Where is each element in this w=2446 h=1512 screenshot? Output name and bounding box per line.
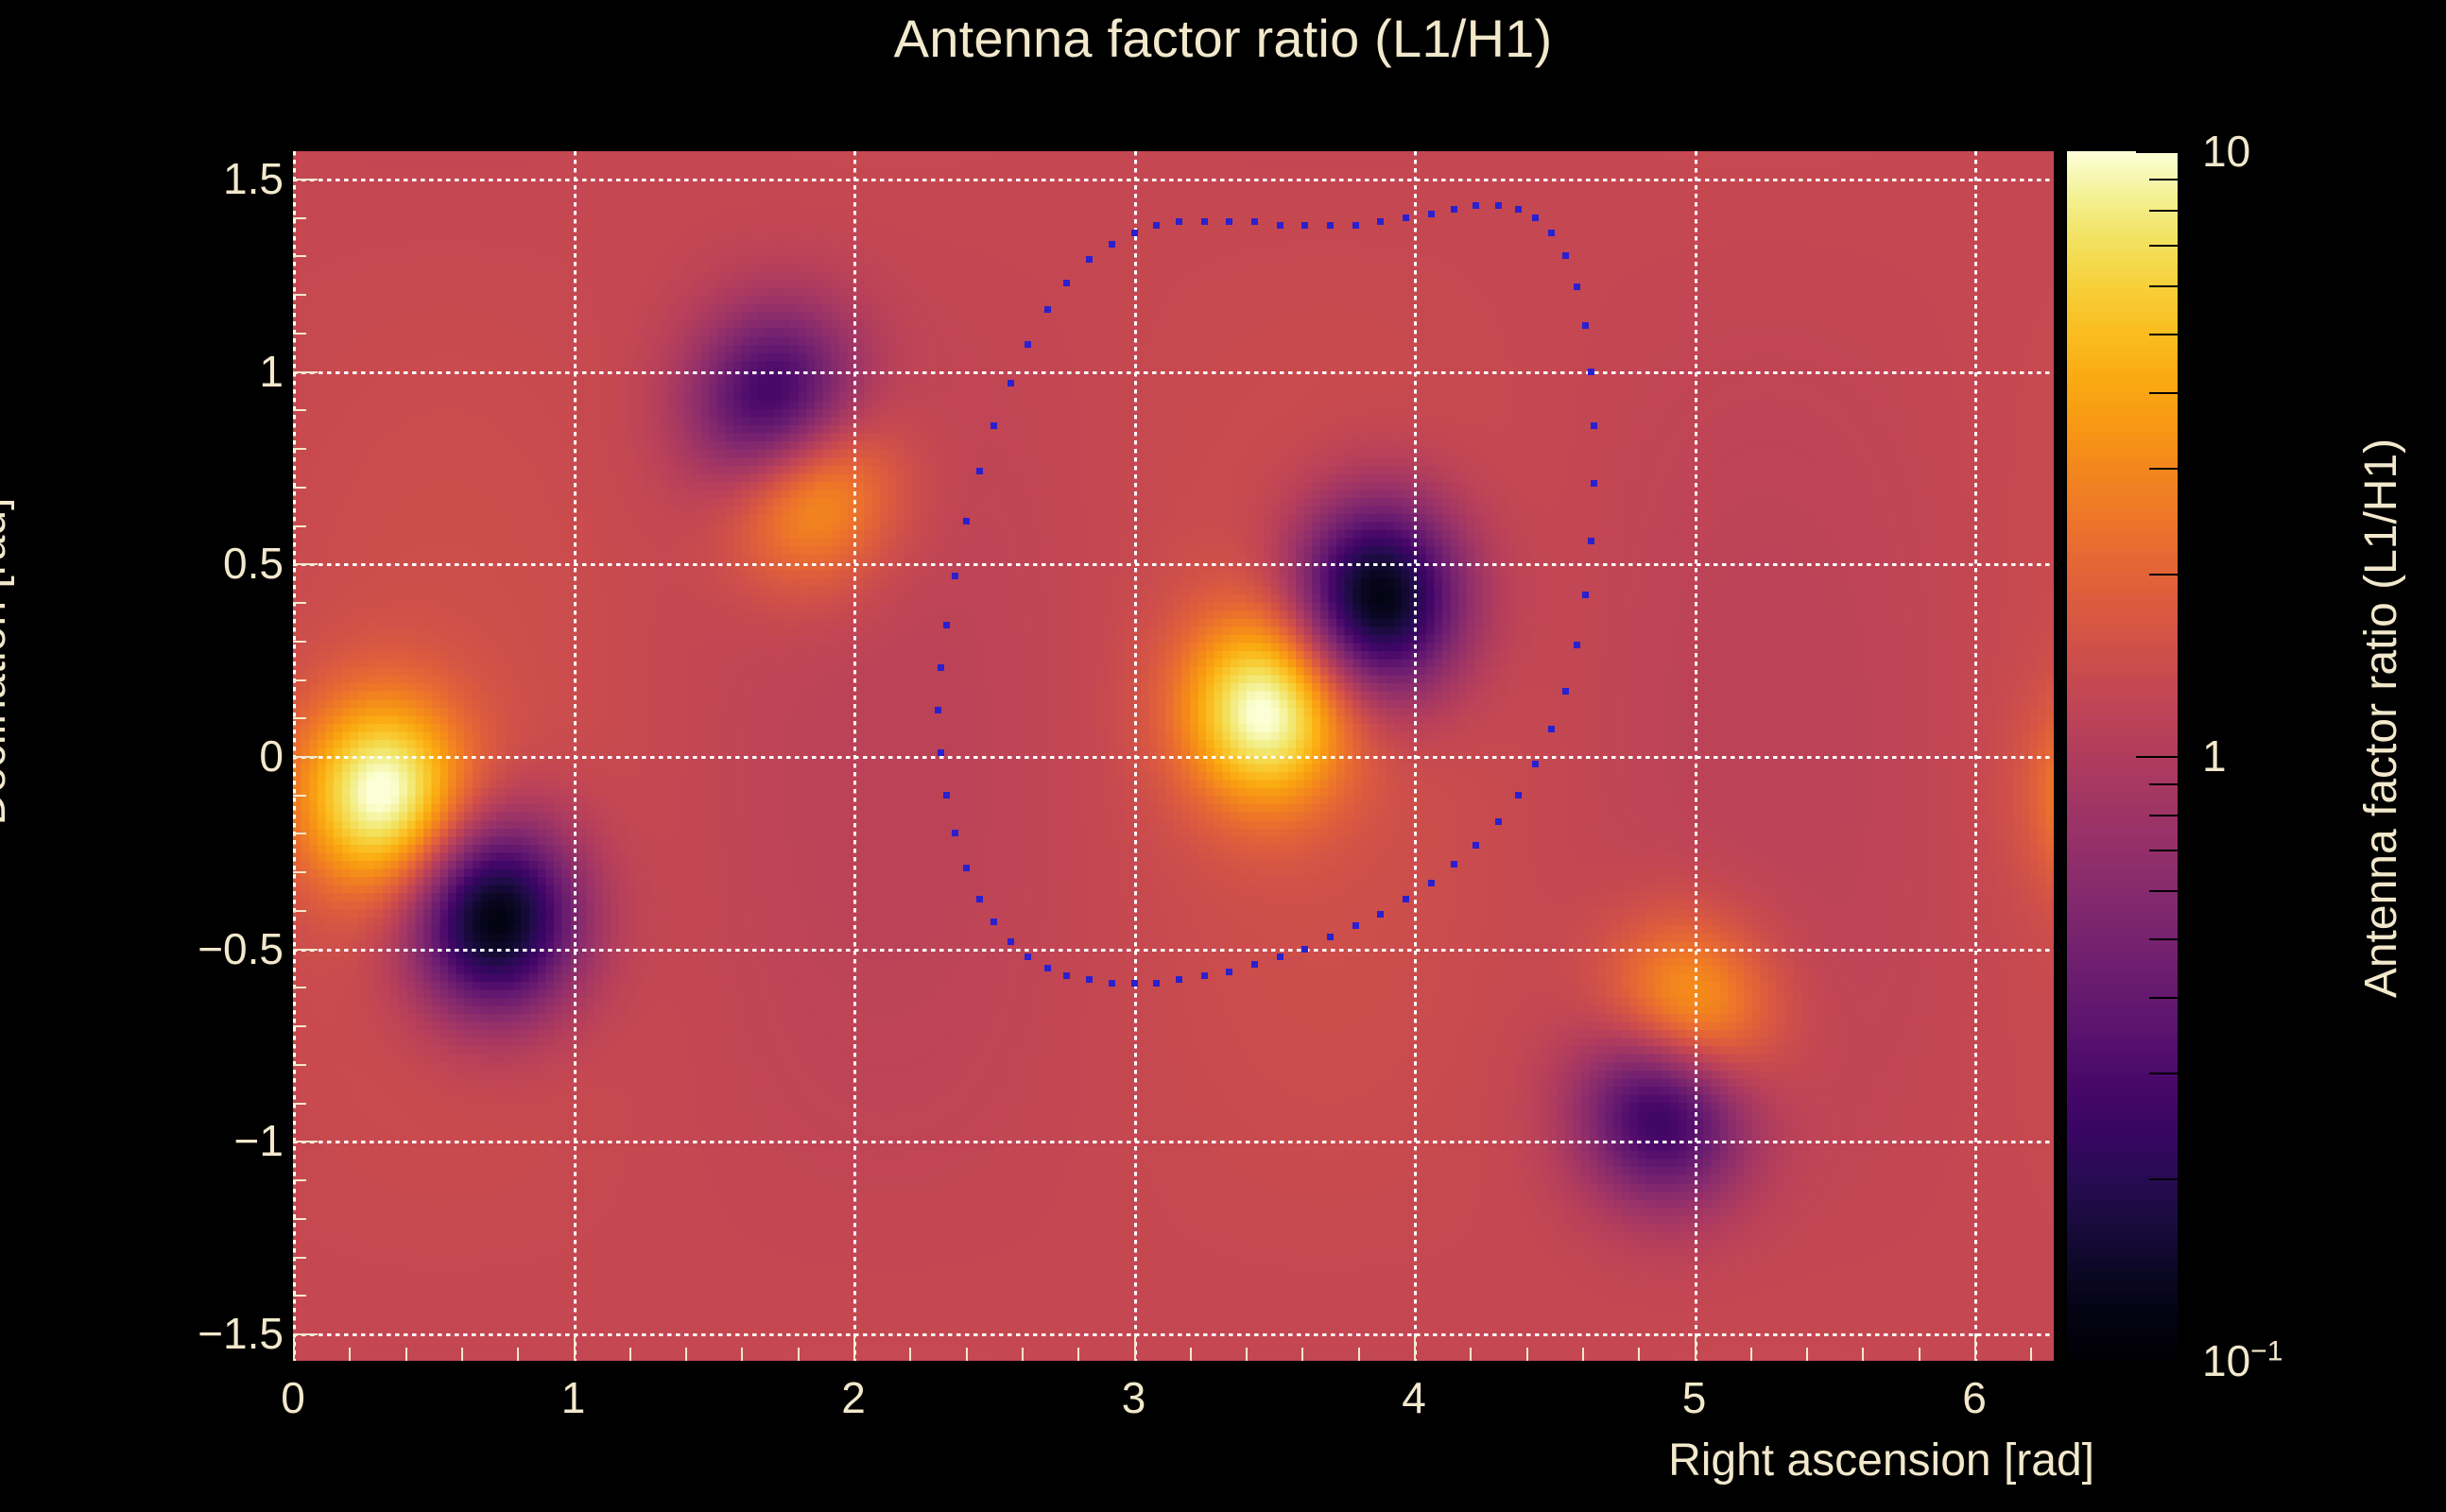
colorbar-tick [2149,938,2178,940]
overlay-curve-point [1063,972,1070,979]
tick-mark [293,987,306,988]
overlay-curve-point [1428,211,1435,217]
tick-mark [293,1141,318,1143]
tick-mark [1077,1348,1079,1361]
tick-mark [1470,1348,1472,1361]
y-axis-tick-label: −1.5 [198,1308,284,1359]
tick-mark [1190,1348,1192,1361]
overlay-curve-point [1532,215,1539,221]
overlay-curve-point [990,422,997,429]
tick-mark [293,563,318,565]
overlay-curve-point [1251,218,1258,225]
y-axis-tick-label: −1 [234,1115,284,1166]
overlay-curve-point [1201,972,1208,979]
tick-mark [293,641,306,643]
overlay-curve-point [1495,202,1502,209]
overlay-curve-point [1588,369,1594,375]
overlay-curve-point [1451,206,1457,213]
overlay-curve-point [1473,202,1479,209]
tick-mark [293,717,306,719]
colorbar-tick [2149,468,2178,470]
tick-mark [741,1348,743,1361]
tick-mark [2030,1348,2032,1361]
overlay-curve-point [1025,954,1031,960]
tick-mark [293,1179,306,1181]
overlay-curve-point [1562,252,1569,259]
y-axis-tick-label: 0.5 [223,538,284,589]
tick-mark [293,756,318,758]
colorbar-tick [2136,756,2178,758]
tick-mark [1358,1348,1360,1361]
tick-mark [293,795,306,797]
tick-mark [293,833,306,834]
tick-mark [1862,1348,1864,1361]
overlay-curve-point [1428,880,1435,886]
tick-mark [293,409,306,411]
overlay-curve-point [1352,222,1359,229]
tick-mark [1301,1348,1303,1361]
overlay-curve-point [1562,688,1569,695]
tick-mark [293,949,318,951]
overlay-curve-point [1327,934,1334,940]
x-axis-tick-label: 5 [1682,1372,1707,1423]
tick-mark [293,602,306,604]
overlay-curve-point [1131,230,1138,236]
overlay-curve-point [1086,976,1093,983]
overlay-curve-point [1109,980,1115,987]
tick-mark [1414,1336,1416,1361]
overlay-curve-point [1473,842,1479,849]
tick-mark [293,179,318,180]
tick-mark [1526,1348,1528,1361]
overlay-curve-point [1588,538,1594,544]
y-axis-tick-label: 0 [259,730,284,782]
tick-mark [293,448,306,450]
overlay-curve-point [1574,283,1580,290]
tick-mark [293,1103,306,1105]
overlay-curve-point [952,830,958,836]
plot-canvas: Antenna factor ratio (L1/H1) 1.510.50−0.… [0,0,2446,1512]
colorbar [2067,151,2178,1361]
overlay-curve-point [976,468,983,474]
overlay-curve-point [1044,965,1051,971]
tick-mark [293,487,306,489]
tick-mark [798,1348,800,1361]
colorbar-tick [2149,997,2178,999]
tick-mark [293,910,306,912]
tick-mark [293,1257,306,1259]
colorbar-tick [2149,890,2178,892]
colorbar-tick [2136,1361,2178,1363]
colorbar-tick [2149,783,2178,785]
tick-mark [1134,1336,1136,1361]
tick-mark [293,1218,306,1220]
tick-mark [1695,1336,1697,1361]
y-axis-tick-label: −0.5 [198,923,284,974]
overlay-curve-point [1176,218,1182,225]
tick-mark [909,1348,911,1361]
x-axis-tick-label: 3 [1122,1372,1146,1423]
overlay-curve-point [1201,218,1208,225]
overlay-curve-point [1327,222,1334,229]
colorbar-tick-label: 1 [2202,730,2227,782]
galactic-plane-overlay [293,151,2054,1361]
colorbar-tick [2149,245,2178,247]
overlay-curve-point [976,896,983,902]
overlay-curve-point [1352,922,1359,929]
tick-mark [685,1348,687,1361]
overlay-curve-point [938,749,944,756]
overlay-curve-point [1044,306,1051,313]
tick-mark [517,1348,519,1361]
overlay-curve-point [943,622,950,628]
tick-mark [349,1348,351,1361]
overlay-curve-point [963,518,970,524]
colorbar-tick [2149,334,2178,335]
tick-mark [293,525,306,527]
tick-mark [293,1064,306,1066]
tick-mark [293,217,306,219]
tick-mark [293,1025,306,1027]
overlay-curve-point [1153,980,1160,987]
overlay-curve-point [1495,818,1502,825]
colorbar-tick [2149,850,2178,851]
tick-mark [853,1336,855,1361]
x-axis-tick-label: 1 [561,1372,586,1423]
tick-mark [1974,1348,1976,1361]
colorbar-tick [2136,151,2178,153]
overlay-curve-point [1251,961,1258,968]
tick-mark [629,1348,631,1361]
tick-mark [293,679,306,681]
tick-mark [293,294,306,296]
y-axis-tick-label: 1.5 [223,153,284,204]
x-axis-tick-label: 6 [1962,1372,1987,1423]
colorbar-tick [2149,815,2178,816]
tick-mark [1246,1348,1248,1361]
tick-mark [293,1333,318,1335]
overlay-curve-point [1515,206,1522,213]
overlay-curve-point [1109,241,1115,248]
overlay-curve-point [963,865,970,871]
x-axis-tick-label: 4 [1402,1372,1426,1423]
overlay-curve-point [1377,218,1384,225]
colorbar-tick [2149,1073,2178,1074]
tick-mark [405,1348,407,1361]
tick-mark [293,1336,295,1361]
overlay-curve-point [1532,761,1539,767]
overlay-curve-point [1277,954,1283,960]
colorbar-tick [2149,179,2178,180]
overlay-curve-point [1515,792,1522,799]
tick-mark [1022,1348,1024,1361]
x-axis-title: Right ascension [rad] [1668,1435,2094,1486]
overlay-curve-point [952,573,958,579]
overlay-curve-point [1226,969,1232,975]
overlay-curve-point [1403,215,1409,221]
overlay-curve-point [943,792,950,799]
tick-mark [1582,1348,1584,1361]
overlay-curve-point [1591,480,1597,487]
overlay-curve-point [1008,938,1014,945]
overlay-curve-point [1025,341,1031,348]
x-axis-tick-label: 2 [841,1372,866,1423]
tick-mark [293,871,306,873]
colorbar-tick [2149,574,2178,576]
y-axis-title: Declination [rad] [0,498,16,826]
overlay-curve-point [1008,380,1014,387]
colorbar-tick [2149,1178,2178,1180]
colorbar-tick-label: 10 [2202,126,2250,177]
overlay-curve-point [1277,222,1283,229]
tick-mark [574,1336,576,1361]
tick-mark [1638,1348,1640,1361]
overlay-curve-point [990,919,997,925]
tick-mark [461,1348,463,1361]
colorbar-title: Antenna factor ratio (L1/H1) [2355,438,2407,998]
tick-mark [293,333,306,335]
overlay-curve-point [1176,976,1182,983]
tick-mark [1806,1348,1808,1361]
overlay-curve-point [1451,861,1457,868]
tick-mark [1750,1348,1752,1361]
tick-mark [293,371,318,373]
overlay-curve-point [1403,896,1409,902]
heatmap-plot-area [293,151,2054,1361]
overlay-curve-point [1574,642,1580,648]
page-title: Antenna factor ratio (L1/H1) [0,8,2446,69]
overlay-curve-point [938,664,944,671]
overlay-curve-point [1086,256,1093,263]
colorbar-tick-label: 10−1 [2202,1335,2282,1386]
tick-mark [1919,1348,1921,1361]
colorbar-tick [2149,210,2178,212]
colorbar-tick [2149,392,2178,394]
overlay-curve-point [1591,422,1597,429]
overlay-curve-point [1548,230,1555,236]
y-axis-tick-label: 1 [259,346,284,397]
x-axis-tick-label: 0 [281,1372,305,1423]
overlay-curve-point [1131,980,1138,987]
overlay-curve-point [1226,218,1232,225]
overlay-curve-point [1582,322,1589,329]
overlay-curve-point [1153,222,1160,229]
overlay-curve-point [1301,222,1308,229]
colorbar-tick [2149,285,2178,287]
overlay-curve-point [1377,911,1384,918]
overlay-curve-point [1548,726,1555,732]
tick-mark [966,1348,968,1361]
overlay-curve-point [1301,946,1308,953]
overlay-curve-point [1582,592,1589,598]
tick-mark [293,255,306,257]
overlay-curve-point [935,707,941,713]
tick-mark [293,1295,306,1297]
overlay-curve-point [1063,280,1070,286]
